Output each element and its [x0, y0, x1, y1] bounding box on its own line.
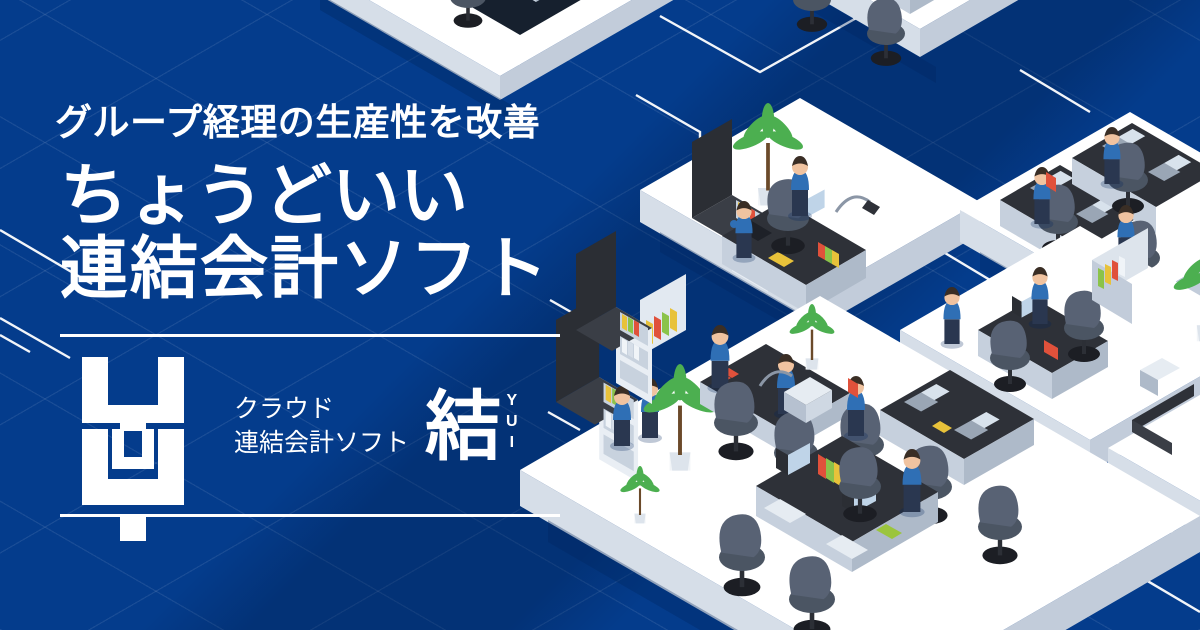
- hero-banner: グループ経理の生産性を改善 ちょうどいい 連結会計ソフト: [0, 0, 1200, 630]
- romaji-y: Y: [506, 393, 518, 409]
- logo-subtitle-line-1: クラウド: [234, 392, 409, 426]
- logo-text-block: クラウド 連結会計ソフト 結 Y U I: [234, 392, 519, 464]
- hero-headline: ちょうどいい 連結会計ソフト: [60, 160, 550, 306]
- hero-content: グループ経理の生産性を改善 ちょうどいい 連結会計ソフト: [0, 0, 620, 630]
- headline-line-2: 連結会計ソフト: [60, 233, 550, 306]
- romaji-i: I: [510, 435, 515, 451]
- logo-subtitle: クラウド 連結会計ソフト: [234, 392, 409, 464]
- divider-bottom: [60, 514, 560, 517]
- logo-subtitle-line-2: 連結会計ソフト: [234, 426, 409, 460]
- romaji-u: U: [506, 414, 519, 430]
- logo-lockup: クラウド 連結会計ソフト 結 Y U I: [60, 352, 560, 504]
- yui-logo-mark-icon: [82, 357, 188, 499]
- divider-top: [60, 334, 560, 337]
- product-name-wrap: 結 Y U I: [425, 392, 519, 464]
- headline-line-1: ちょうどいい: [60, 160, 550, 233]
- product-name-romaji: Y U I: [506, 393, 519, 464]
- hero-tagline: グループ経理の生産性を改善: [55, 104, 540, 141]
- product-name-kanji: 結: [425, 392, 501, 464]
